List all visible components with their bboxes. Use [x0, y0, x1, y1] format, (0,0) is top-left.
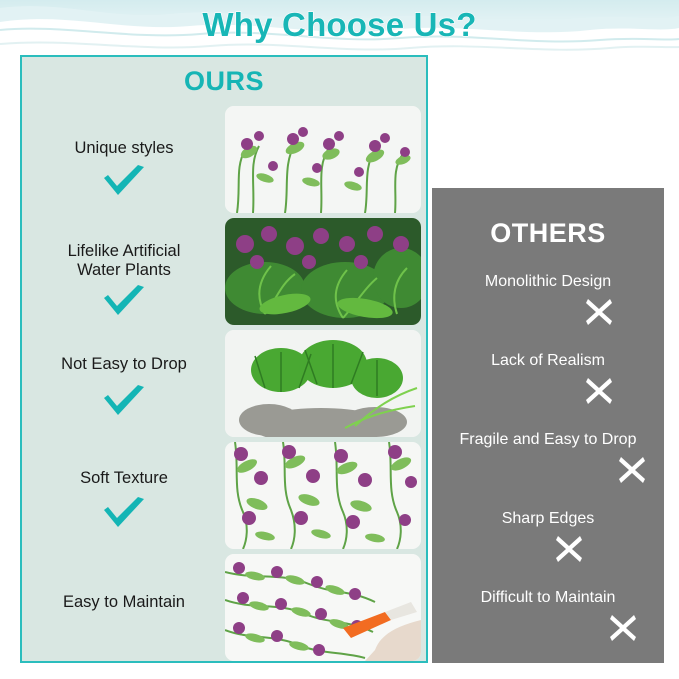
others-title: OTHERS [432, 218, 664, 249]
others-row: Sharp Edges [432, 502, 664, 581]
ours-row-label: Not Easy to Drop [20, 355, 228, 374]
ours-title: OURS [20, 66, 428, 97]
comparison-infographic: Why Choose Us? OURS Unique styles [0, 0, 679, 679]
ours-row-left: Easy to Maintain [20, 551, 228, 663]
ours-row-image [225, 442, 421, 549]
ours-row-left: Not Easy to Drop [20, 327, 228, 439]
ours-row-image [225, 106, 421, 213]
others-row: Monolithic Design [432, 265, 664, 344]
ours-row-left: Unique styles [20, 103, 228, 215]
cross-mark-icon [608, 613, 638, 643]
ours-row: Unique styles [20, 103, 428, 215]
ours-row-label: Soft Texture [20, 469, 228, 488]
ours-row-left: Soft Texture [20, 439, 228, 551]
ours-rows: Unique styles [20, 103, 428, 663]
ours-row: Lifelike Artificial Water Plants [20, 215, 428, 327]
check-mark-icon [101, 385, 147, 419]
others-row: Lack of Realism [432, 344, 664, 423]
ours-row-label: Unique styles [20, 139, 228, 158]
check-mark-icon [101, 165, 147, 199]
cross-mark-icon [554, 534, 584, 564]
others-row-label: Fragile and Easy to Drop [432, 431, 664, 449]
others-row: Fragile and Easy to Drop [432, 423, 664, 502]
check-mark-icon [101, 497, 147, 531]
ours-row: Not Easy to Drop [20, 327, 428, 439]
cross-mark-icon [584, 376, 614, 406]
others-row-label: Lack of Realism [432, 352, 664, 370]
ours-row-left: Lifelike Artificial Water Plants [20, 215, 228, 327]
ours-row-image [225, 554, 421, 661]
check-mark-icon [101, 285, 147, 319]
others-row: Difficult to Maintain [432, 581, 664, 660]
cross-mark-icon [584, 297, 614, 327]
ours-row-label: Lifelike Artificial Water Plants [20, 242, 228, 280]
others-row-label: Sharp Edges [432, 510, 664, 528]
ours-row-image [225, 218, 421, 325]
ours-row: Soft Texture [20, 439, 428, 551]
others-row-label: Monolithic Design [432, 273, 664, 291]
ours-row-label: Easy to Maintain [20, 593, 228, 612]
ours-row: Easy to Maintain [20, 551, 428, 663]
ours-row-image [225, 330, 421, 437]
cross-mark-icon [617, 455, 647, 485]
others-rows: Monolithic Design Lack of Realism Fragil… [432, 265, 664, 660]
page-title: Why Choose Us? [0, 6, 679, 44]
others-row-label: Difficult to Maintain [432, 589, 664, 607]
